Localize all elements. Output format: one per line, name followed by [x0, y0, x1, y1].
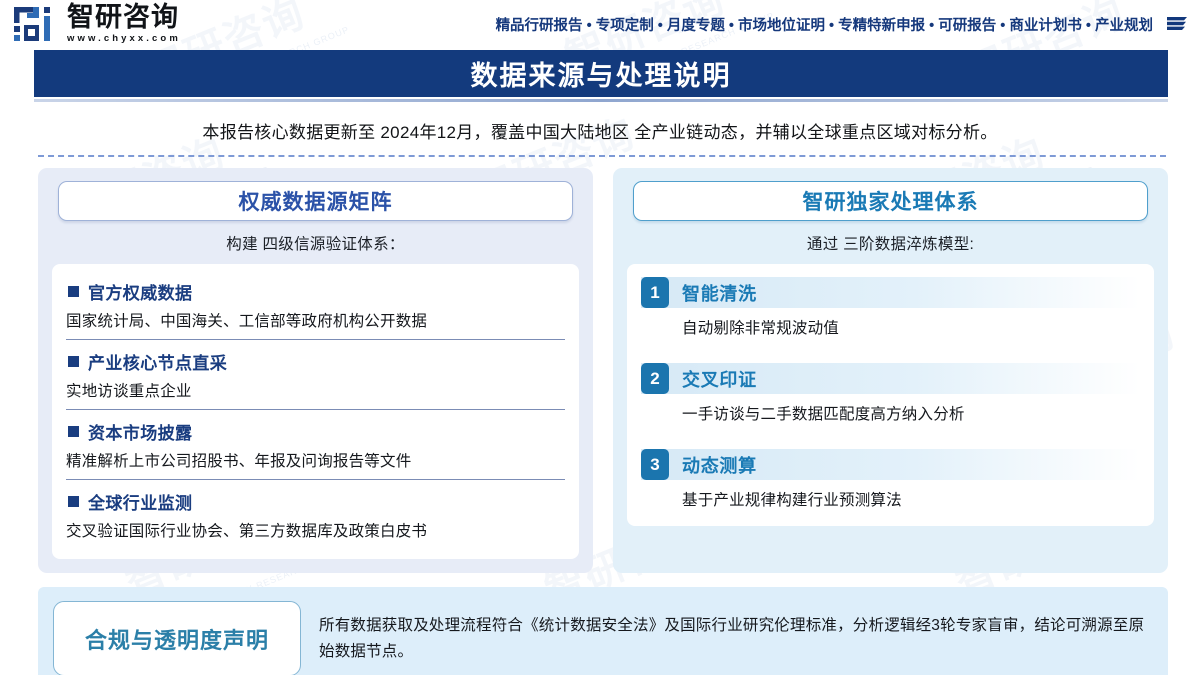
- step-number-badge: 1: [641, 277, 669, 308]
- source-title-row: 资本市场披露: [66, 419, 565, 444]
- topbar-nav-text[interactable]: 精品行研报告 • 专项定制 • 月度专题 • 市场地位证明 • 专精特新申报 •…: [496, 14, 1153, 35]
- list-item[interactable]: 官方权威数据 国家统计局、中国海关、工信部等政府机构公开数据: [66, 270, 565, 339]
- step-title: 智能清洗: [682, 280, 757, 306]
- step-list: 1 智能清洗 自动剔除非常规波动值 2 交叉印证 一手访谈与二手数据匹配度高方纳…: [627, 264, 1154, 526]
- list-item[interactable]: 2 交叉印证 一手访谈与二手数据匹配度高方纳入分析: [641, 356, 1140, 430]
- source-title-row: 产业核心节点直采: [66, 349, 565, 374]
- source-title: 资本市场披露: [88, 419, 192, 444]
- list-item[interactable]: 产业核心节点直采 实地访谈重点企业: [66, 339, 565, 409]
- banner-underline: [34, 99, 1168, 102]
- content-columns: 权威数据源矩阵 构建 四级信源验证体系： 官方权威数据 国家统计局、中国海关、工…: [38, 168, 1168, 573]
- brand-logo[interactable]: 智研咨询 www.chyxx.com: [14, 4, 181, 44]
- square-bullet-icon: [68, 356, 79, 367]
- page-subtitle: 本报告核心数据更新至 2024年12月，覆盖中国大陆地区 全产业链动态，并辅以全…: [0, 118, 1200, 143]
- source-list: 官方权威数据 国家统计局、中国海关、工信部等政府机构公开数据 产业核心节点直采 …: [52, 264, 579, 559]
- right-panel-header: 智研独家处理体系: [633, 181, 1148, 221]
- page-title: 数据来源与处理说明: [471, 54, 732, 93]
- step-description: 一手访谈与二手数据匹配度高方纳入分析: [682, 402, 1140, 424]
- source-description: 实地访谈重点企业: [66, 379, 565, 401]
- processing-system-panel: 智研独家处理体系 通过 三阶数据淬炼模型: 1 智能清洗 自动剔除非常规波动值 …: [613, 168, 1168, 573]
- page-title-banner: 数据来源与处理说明: [34, 50, 1168, 97]
- compliance-badge-label: 合规与透明度声明: [85, 623, 269, 655]
- list-item[interactable]: 资本市场披露 精准解析上市公司招股书、年报及问询报告等文件: [66, 409, 565, 479]
- brand-url: www.chyxx.com: [67, 34, 181, 44]
- source-description: 国家统计局、中国海关、工信部等政府机构公开数据: [66, 309, 565, 331]
- list-item[interactable]: 全球行业监测 交叉验证国际行业协会、第三方数据库及政策白皮书: [66, 479, 565, 549]
- left-panel-title: 权威数据源矩阵: [239, 186, 393, 216]
- step-number-badge: 2: [641, 363, 669, 394]
- list-item[interactable]: 1 智能清洗 自动剔除非常规波动值: [641, 270, 1140, 344]
- stacked-layers-icon[interactable]: [1166, 14, 1188, 34]
- source-description: 交叉验证国际行业协会、第三方数据库及政策白皮书: [66, 519, 565, 541]
- square-bullet-icon: [68, 426, 79, 437]
- chyxx-logo-icon: [14, 7, 60, 41]
- top-bar: 智研咨询 www.chyxx.com 精品行研报告 • 专项定制 • 月度专题 …: [0, 0, 1200, 48]
- step-title: 动态测算: [682, 452, 757, 478]
- source-title: 产业核心节点直采: [88, 349, 227, 374]
- step-description: 自动剔除非常规波动值: [682, 316, 1140, 338]
- source-title: 官方权威数据: [88, 279, 192, 304]
- step-title-row: 1 智能清洗: [641, 277, 1140, 308]
- source-title: 全球行业监测: [88, 489, 192, 514]
- step-title-row: 2 交叉印证: [641, 363, 1140, 394]
- dashed-divider: [38, 155, 1166, 157]
- step-title: 交叉印证: [682, 366, 757, 392]
- source-description: 精准解析上市公司招股书、年报及问询报告等文件: [66, 449, 565, 471]
- right-panel-subtitle: 通过 三阶数据淬炼模型:: [627, 232, 1154, 254]
- authoritative-sources-panel: 权威数据源矩阵 构建 四级信源验证体系： 官方权威数据 国家统计局、中国海关、工…: [38, 168, 593, 573]
- left-panel-header: 权威数据源矩阵: [58, 181, 573, 221]
- list-item[interactable]: 3 动态测算 基于产业规律构建行业预测算法: [641, 442, 1140, 516]
- right-panel-title: 智研独家处理体系: [803, 186, 979, 216]
- square-bullet-icon: [68, 496, 79, 507]
- source-title-row: 官方权威数据: [66, 279, 565, 304]
- source-title-row: 全球行业监测: [66, 489, 565, 514]
- step-number-badge: 3: [641, 449, 669, 480]
- square-bullet-icon: [68, 286, 79, 297]
- step-description: 基于产业规律构建行业预测算法: [682, 488, 1140, 510]
- compliance-statement-section: 合规与透明度声明 所有数据获取及处理流程符合《统计数据安全法》及国际行业研究伦理…: [38, 587, 1168, 675]
- compliance-statement-text: 所有数据获取及处理流程符合《统计数据安全法》及国际行业研究伦理标准，分析逻辑经3…: [319, 613, 1152, 663]
- compliance-badge: 合规与透明度声明: [53, 601, 301, 675]
- left-panel-subtitle: 构建 四级信源验证体系：: [52, 232, 579, 254]
- step-title-row: 3 动态测算: [641, 449, 1140, 480]
- brand-name: 智研咨询: [67, 4, 181, 31]
